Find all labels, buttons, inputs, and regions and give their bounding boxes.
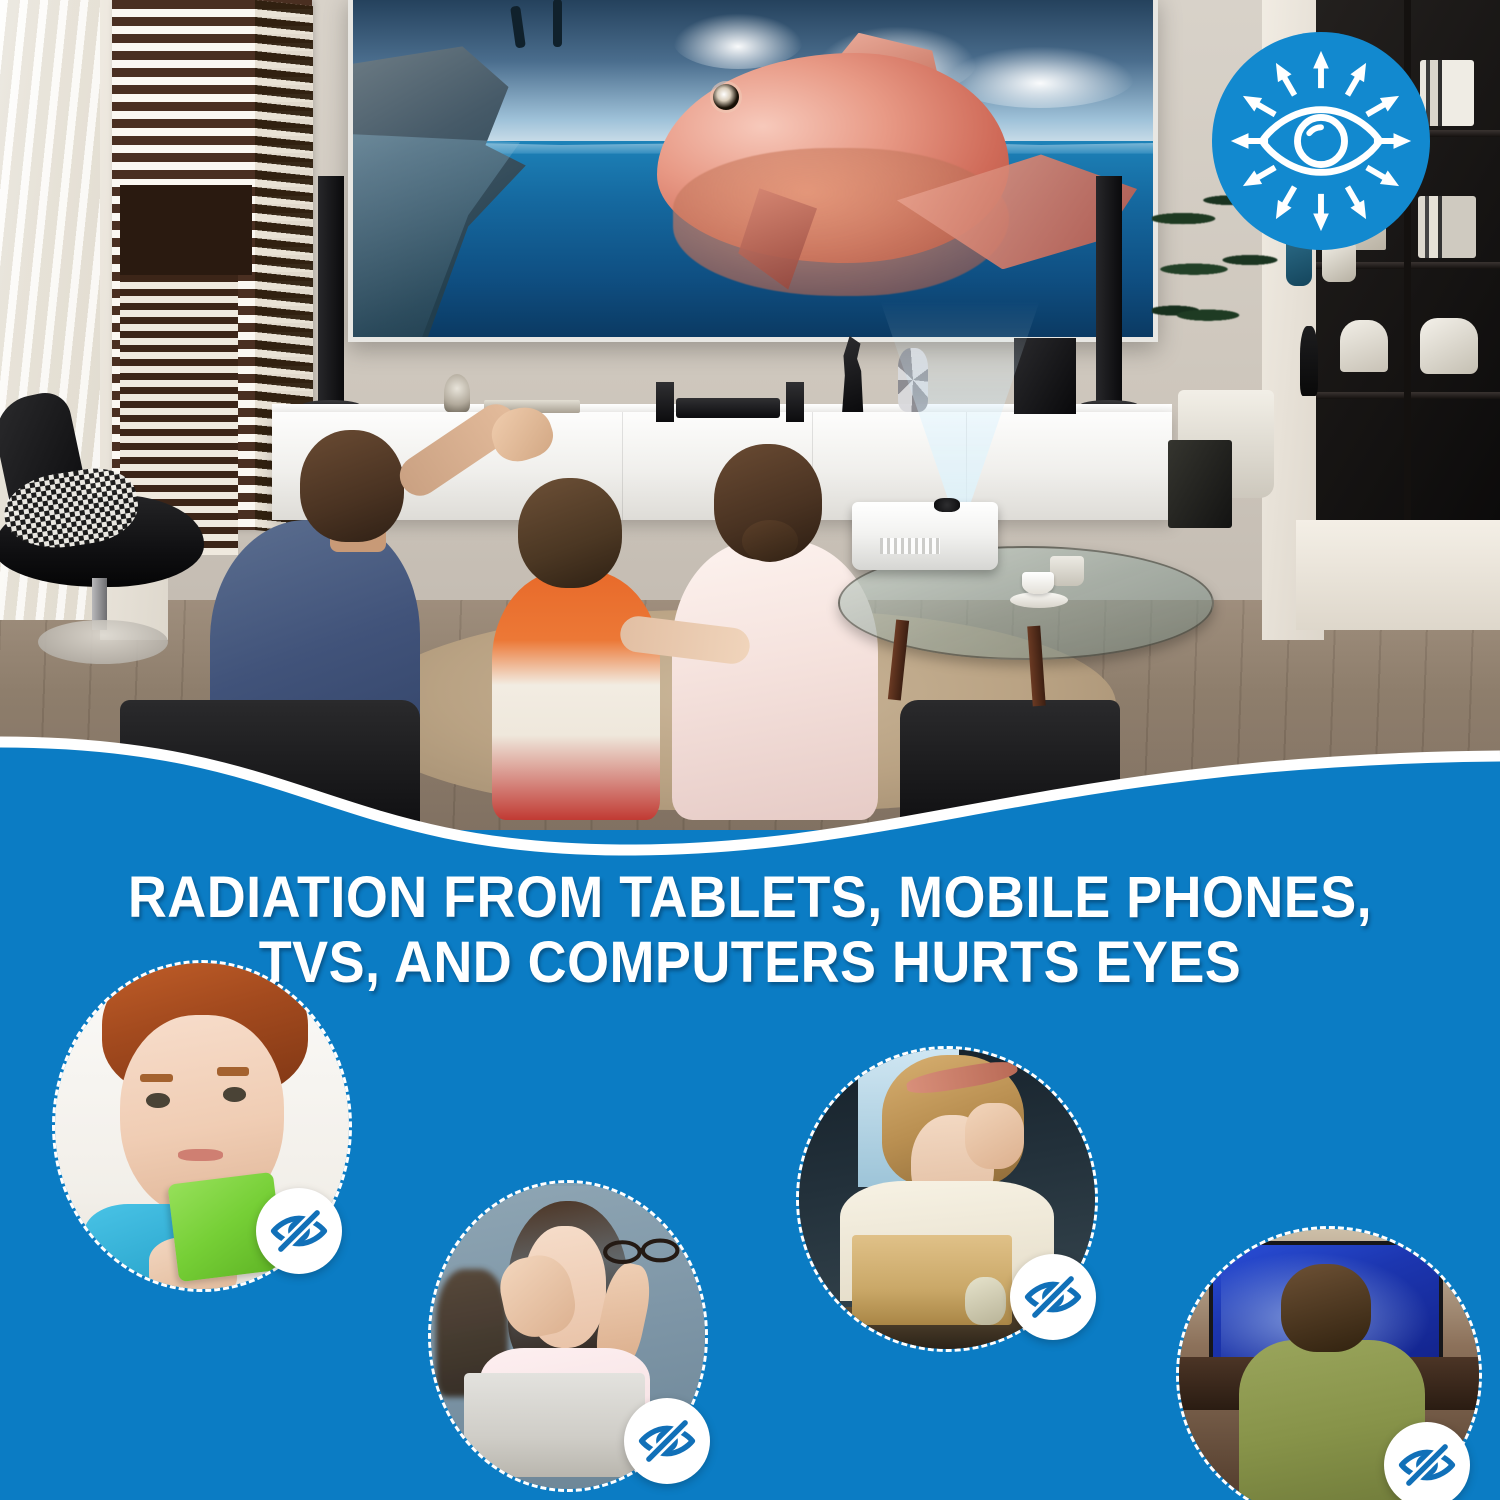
table-plant-pot: [1050, 556, 1084, 586]
bubble-tablet-girl[interactable]: [796, 1046, 1098, 1352]
subwoofer: [1014, 338, 1076, 414]
bubble-laptop-woman[interactable]: [428, 1180, 708, 1492]
projector-device: [852, 502, 998, 570]
projection-screen-frame: [348, 0, 1158, 342]
product-infographic-poster: RADIATION FROM TABLETS, MOBILE PHONES, T…: [0, 0, 1500, 1500]
boy-mouth: [178, 1149, 222, 1161]
eye-slash-icon: [270, 1202, 328, 1260]
person-mother-hair-bun: [742, 520, 798, 562]
bookshelf-books: [1420, 60, 1474, 126]
swivel-chair-base: [38, 620, 168, 664]
decor-clock: [444, 374, 470, 412]
headline-line-1: RADIATION FROM TABLETS, MOBILE PHONES,: [53, 866, 1448, 931]
eye-slash-badge[interactable]: [1384, 1422, 1470, 1500]
bookshelf-speaker-left: [656, 382, 674, 422]
boy-eyebrow-left: [140, 1074, 172, 1082]
bookshelf-books: [1418, 196, 1476, 258]
projector-vents: [880, 538, 940, 554]
bookshelf-base-cabinet: [1296, 520, 1500, 630]
boy-eye-left: [146, 1093, 170, 1108]
media-console-seam: [622, 412, 623, 520]
boy-eyebrow-right: [217, 1067, 249, 1075]
bookshelf-speaker-right: [786, 382, 804, 422]
bluray-player: [676, 398, 780, 418]
tower-speaker-left: [318, 176, 344, 408]
screen-fish-eye: [713, 84, 739, 110]
decor-candlestick: [1300, 326, 1318, 396]
slat-panel-dark-inset: [120, 185, 252, 275]
radiating-eye-badge: [1212, 32, 1430, 250]
bubble-phone-boy[interactable]: [52, 960, 352, 1292]
eye-slash-badge[interactable]: [624, 1398, 710, 1484]
trash-bin: [1168, 440, 1232, 528]
bookshelf-decor-object: [1420, 318, 1478, 374]
eyeglasses-icon: [601, 1232, 683, 1266]
projection-screen-image: [353, 0, 1153, 337]
eye-slash-icon: [638, 1412, 696, 1470]
person-mother-body: [672, 540, 878, 820]
tower-speaker-right: [1096, 176, 1122, 408]
blue-content-panel: RADIATION FROM TABLETS, MOBILE PHONES, T…: [0, 780, 1500, 1500]
cat-figurine: [965, 1277, 1006, 1325]
laptop: [464, 1373, 645, 1477]
eye-slash-badge[interactable]: [256, 1188, 342, 1274]
boy-head: [1281, 1264, 1371, 1352]
screen-figure-right: [553, 0, 562, 47]
radiating-eye-icon: [1223, 43, 1419, 239]
boy-eye-right: [223, 1087, 247, 1102]
person-child-head: [518, 478, 622, 588]
bubble-tv-boy[interactable]: [1176, 1226, 1482, 1500]
eye-slash-icon: [1024, 1268, 1082, 1326]
projector-lens: [934, 498, 960, 512]
bookshelf-decor-object: [1340, 320, 1388, 372]
person-father-head: [300, 430, 404, 542]
girl-hand-rubbing-eye: [965, 1103, 1024, 1169]
saucer: [1010, 592, 1068, 608]
eye-slash-icon: [1398, 1436, 1456, 1494]
eye-slash-badge[interactable]: [1010, 1254, 1096, 1340]
teacup: [1022, 572, 1054, 594]
